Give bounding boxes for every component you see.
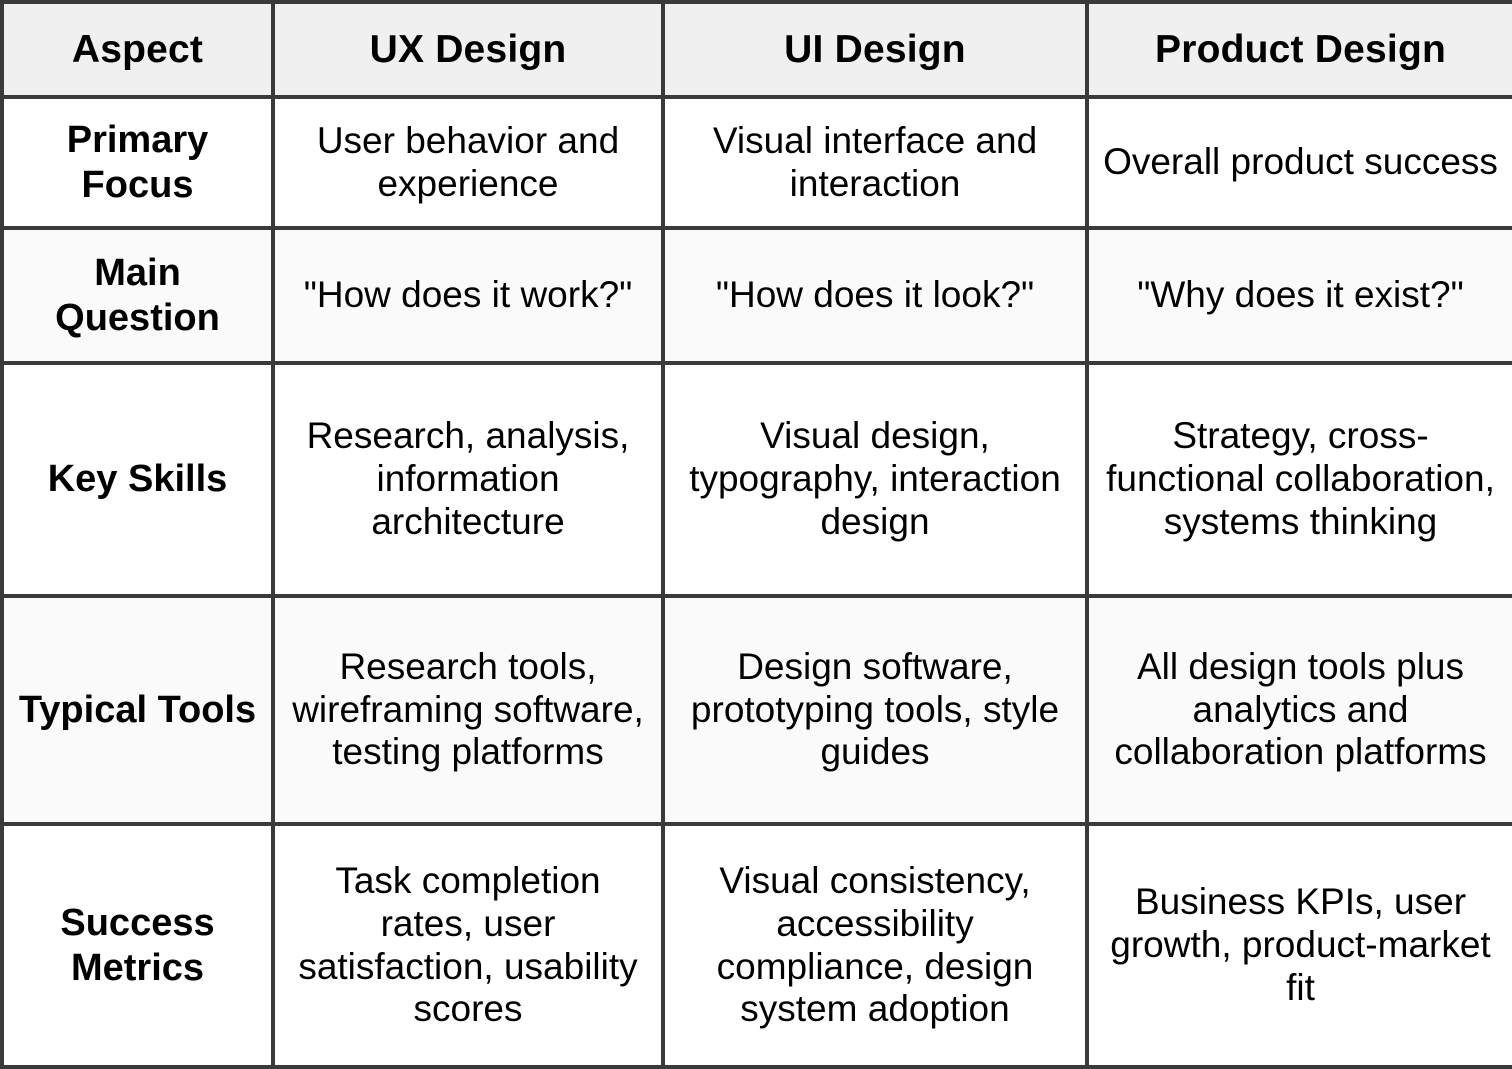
comparison-table-container: Aspect UX Design UI Design Product Desig…	[0, 0, 1512, 1065]
row-label-primary-focus: Primary Focus	[2, 97, 273, 228]
cell-success-metrics-ux: Task completion rates, user satisfaction…	[273, 824, 663, 1067]
column-header-aspect: Aspect	[2, 2, 273, 97]
row-label-main-question: Main Question	[2, 228, 273, 363]
row-label-typical-tools: Typical Tools	[2, 596, 273, 824]
cell-primary-focus-ui: Visual interface and interaction	[663, 97, 1087, 228]
cell-key-skills-ui: Visual design, typography, interaction d…	[663, 363, 1087, 596]
column-header-ux-design: UX Design	[273, 2, 663, 97]
column-header-product-design: Product Design	[1087, 2, 1512, 97]
cell-typical-tools-product: All design tools plus analytics and coll…	[1087, 596, 1512, 824]
table-header-row: Aspect UX Design UI Design Product Desig…	[2, 2, 1512, 97]
cell-success-metrics-ui: Visual consistency, accessibility compli…	[663, 824, 1087, 1067]
table-row-key-skills: Key Skills Research, analysis, informati…	[2, 363, 1512, 596]
table-row-typical-tools: Typical Tools Research tools, wireframin…	[2, 596, 1512, 824]
table-header: Aspect UX Design UI Design Product Desig…	[2, 2, 1512, 97]
table-body: Primary Focus User behavior and experien…	[2, 97, 1512, 1067]
row-label-success-metrics: Success Metrics	[2, 824, 273, 1067]
cell-primary-focus-ux: User behavior and experience	[273, 97, 663, 228]
table-row-main-question: Main Question "How does it work?" "How d…	[2, 228, 1512, 363]
table-row-success-metrics: Success Metrics Task completion rates, u…	[2, 824, 1512, 1067]
cell-main-question-ui: "How does it look?"	[663, 228, 1087, 363]
cell-main-question-product: "Why does it exist?"	[1087, 228, 1512, 363]
column-header-ui-design: UI Design	[663, 2, 1087, 97]
cell-success-metrics-product: Business KPIs, user growth, product-mark…	[1087, 824, 1512, 1067]
design-disciplines-comparison-table: Aspect UX Design UI Design Product Desig…	[0, 0, 1512, 1069]
cell-typical-tools-ui: Design software, prototyping tools, styl…	[663, 596, 1087, 824]
cell-key-skills-product: Strategy, cross-functional collaboration…	[1087, 363, 1512, 596]
cell-typical-tools-ux: Research tools, wireframing software, te…	[273, 596, 663, 824]
cell-primary-focus-product: Overall product success	[1087, 97, 1512, 228]
row-label-key-skills: Key Skills	[2, 363, 273, 596]
table-row-primary-focus: Primary Focus User behavior and experien…	[2, 97, 1512, 228]
cell-key-skills-ux: Research, analysis, information architec…	[273, 363, 663, 596]
cell-main-question-ux: "How does it work?"	[273, 228, 663, 363]
